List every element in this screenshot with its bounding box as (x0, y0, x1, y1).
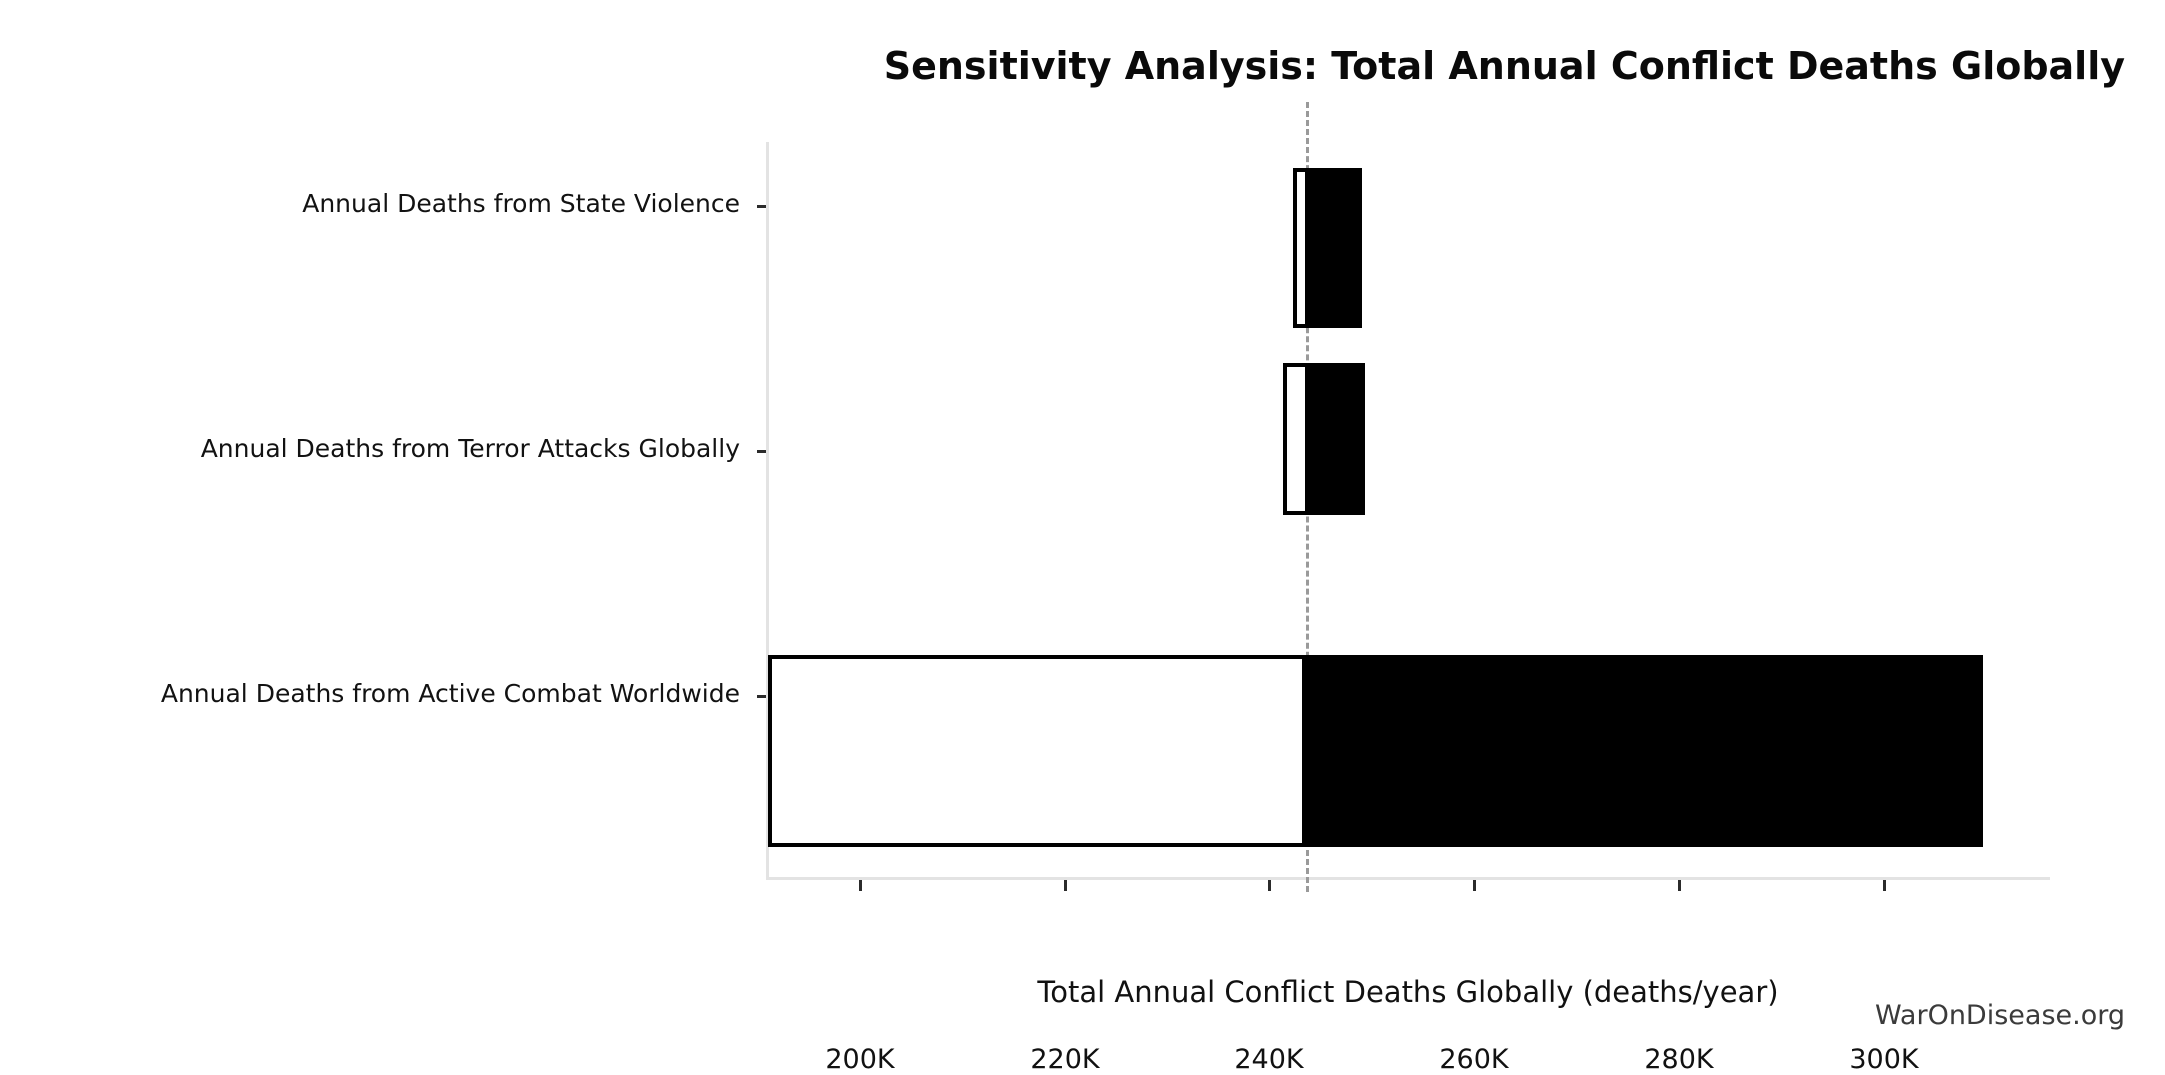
x-axis-title: Total Annual Conflict Deaths Globally (d… (766, 975, 2050, 1009)
y-axis-label-state-violence: Annual Deaths from State Violence (0, 189, 740, 218)
plot-area: 200K 220K 240K 260K 280K 300K (766, 142, 2050, 877)
x-tick-mark-280k (1678, 880, 1681, 891)
x-tick-label-300k: 300K (1849, 1044, 1918, 1075)
y-tick-mark-state-violence (757, 205, 766, 208)
x-tick-label-280k: 280K (1644, 1044, 1713, 1075)
y-axis-label-active-combat: Annual Deaths from Active Combat Worldwi… (0, 679, 740, 708)
axis-spine-bottom (766, 877, 2050, 880)
bar-segment-high-terror-attacks[interactable] (1309, 363, 1365, 515)
y-tick-mark-active-combat (757, 695, 766, 698)
x-tick-label-220k: 220K (1030, 1044, 1099, 1075)
x-tick-mark-220k (1064, 880, 1067, 891)
table-row[interactable] (768, 655, 1983, 847)
chart-title: Sensitivity Analysis: Total Annual Confl… (0, 44, 2125, 88)
x-tick-mark-240k (1268, 880, 1271, 891)
bar-segment-low-active-combat[interactable] (768, 655, 1306, 847)
x-tick-mark-300k (1883, 880, 1886, 891)
x-tick-label-200k: 200K (825, 1044, 894, 1075)
bar-segment-high-state-violence[interactable] (1309, 168, 1362, 328)
x-tick-label-260k: 260K (1439, 1044, 1508, 1075)
bar-segment-low-state-violence[interactable] (1293, 168, 1309, 328)
x-tick-mark-260k (1473, 880, 1476, 891)
bar-segment-high-active-combat[interactable] (1306, 655, 1983, 847)
sensitivity-analysis-figure: Sensitivity Analysis: Total Annual Confl… (0, 0, 2165, 1075)
table-row[interactable] (1283, 363, 1365, 515)
bar-segment-low-terror-attacks[interactable] (1283, 363, 1309, 515)
x-tick-label-240k: 240K (1234, 1044, 1303, 1075)
x-tick-mark-200k (859, 880, 862, 891)
y-axis-label-terror-attacks: Annual Deaths from Terror Attacks Global… (0, 434, 740, 463)
y-tick-mark-terror-attacks (757, 450, 766, 453)
watermark: WarOnDisease.org (1875, 1000, 2125, 1031)
table-row[interactable] (1293, 168, 1362, 328)
